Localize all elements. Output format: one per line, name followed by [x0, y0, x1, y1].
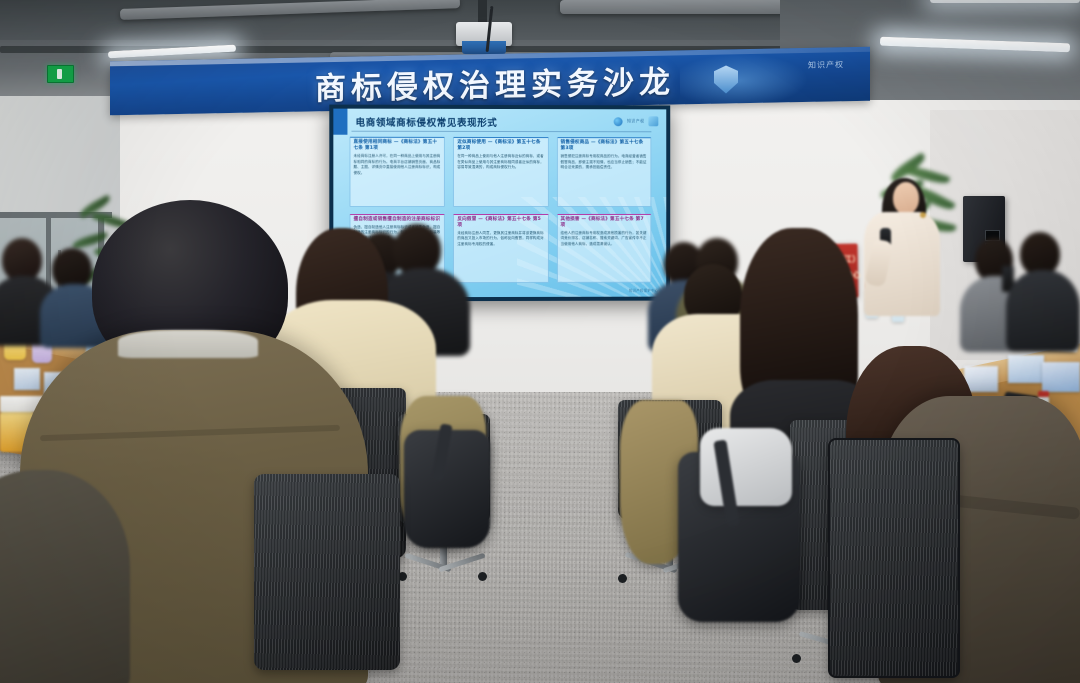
- shirt-collar: [118, 330, 258, 358]
- slide-box: 其他损害 —《商标法》第五十七条 第7项 给他人的注册商标专用权造成其他损害的行…: [557, 213, 652, 282]
- slide-box-body: 在同一种商品上使用与他人注册商标近似的商标，或者在类似商品上使用与其注册商标相同…: [457, 154, 544, 170]
- projector-base: [462, 41, 506, 54]
- banner-glow: [680, 52, 810, 104]
- slide-box-header: 销售侵权商品 —《商标法》第五十七条 第3项: [561, 140, 648, 152]
- slide-box-body: 销售侵犯注册商标专用权商品的行为。电商经营者销售假冒商品，即使主观不知情，也应当…: [561, 154, 648, 170]
- slide-logo-text: 知识产权: [627, 118, 644, 124]
- slide-box-header: 直接使用相同商标 —《商标法》第五十七条 第1项: [353, 140, 441, 153]
- chair-caster: [618, 574, 627, 583]
- chair-backrest[interactable]: [254, 474, 400, 670]
- slide-box-header: 擅自制造或销售擅自制造的注册商标标识: [353, 217, 441, 223]
- banner-logo-text: 知识产权: [808, 59, 844, 71]
- slide-box-body: 给他人的注册商标专用权造成其他损害的行为，如关键词竞价排名、店铺名称、搜索关键词…: [561, 231, 648, 247]
- jacket-on-bag: [700, 428, 792, 506]
- slide-box: 销售侵权商品 —《商标法》第五十七条 第3项 销售侵犯注册商标专用权商品的行为。…: [557, 137, 652, 206]
- slide-box-header: 其他损害 —《商标法》第五十七条 第7项: [561, 216, 648, 228]
- slide-box-header: 反向假冒 —《商标法》第五十七条 第5项: [457, 216, 544, 228]
- slide-logos: 知识产权: [614, 116, 658, 126]
- slide-box: 直接使用相同商标 —《商标法》第五十七条 第1项 未经商标注册人许可，在同一种商…: [349, 137, 445, 207]
- presenter-head: [893, 182, 919, 214]
- slide-box-body: 未经商标注册人许可，在同一种商品上使用与其注册商标相同的商标的行为。电商平台店铺…: [353, 154, 441, 176]
- slide-box-body: 未经商标注册人同意，更换其注册商标并将该更换商标的商品又投入市场的行为，俗称反向…: [457, 231, 544, 247]
- slide-footer: 知识产权保护中心: [629, 288, 658, 293]
- bottle-cap: [1038, 391, 1049, 397]
- name-card-tent: [14, 368, 40, 390]
- exit-sign: [47, 65, 74, 83]
- chair-frame: [828, 438, 960, 678]
- slide-box: 反向假冒 —《商标法》第五十七条 第5项 未经商标注册人同意，更换其注册商标并将…: [453, 213, 548, 283]
- org-logo-icon: [614, 117, 623, 126]
- name-card-tent: [1008, 355, 1044, 383]
- projector-mount: [478, 0, 487, 24]
- slide-title-rule: [351, 131, 651, 133]
- banner-title: 商标侵权治理实务沙龙: [315, 56, 675, 108]
- conference-room-photo: 商标侵权治理实务沙龙 知识产权 电商领域商标侵权常见表现形式 知识产权 直接使用…: [0, 0, 1080, 683]
- chair-caster: [792, 654, 801, 663]
- slide-box-header: 近似商标使用 —《商标法》第五十七条 第2项: [457, 140, 544, 152]
- slide-accent-bar: [333, 109, 347, 135]
- slide-box: 近似商标使用 —《商标法》第五十七条 第2项 在同一种商品上使用与他人注册商标近…: [453, 137, 548, 207]
- lapel-pin: [920, 212, 926, 218]
- slide-title: 电商领域商标侵权常见表现形式: [356, 115, 498, 129]
- partner-logo-icon: [648, 116, 658, 126]
- attendee-body: [1006, 270, 1080, 352]
- tube-light: [930, 0, 1080, 3]
- chair-caster: [478, 572, 487, 581]
- name-card-tent: [1042, 362, 1080, 392]
